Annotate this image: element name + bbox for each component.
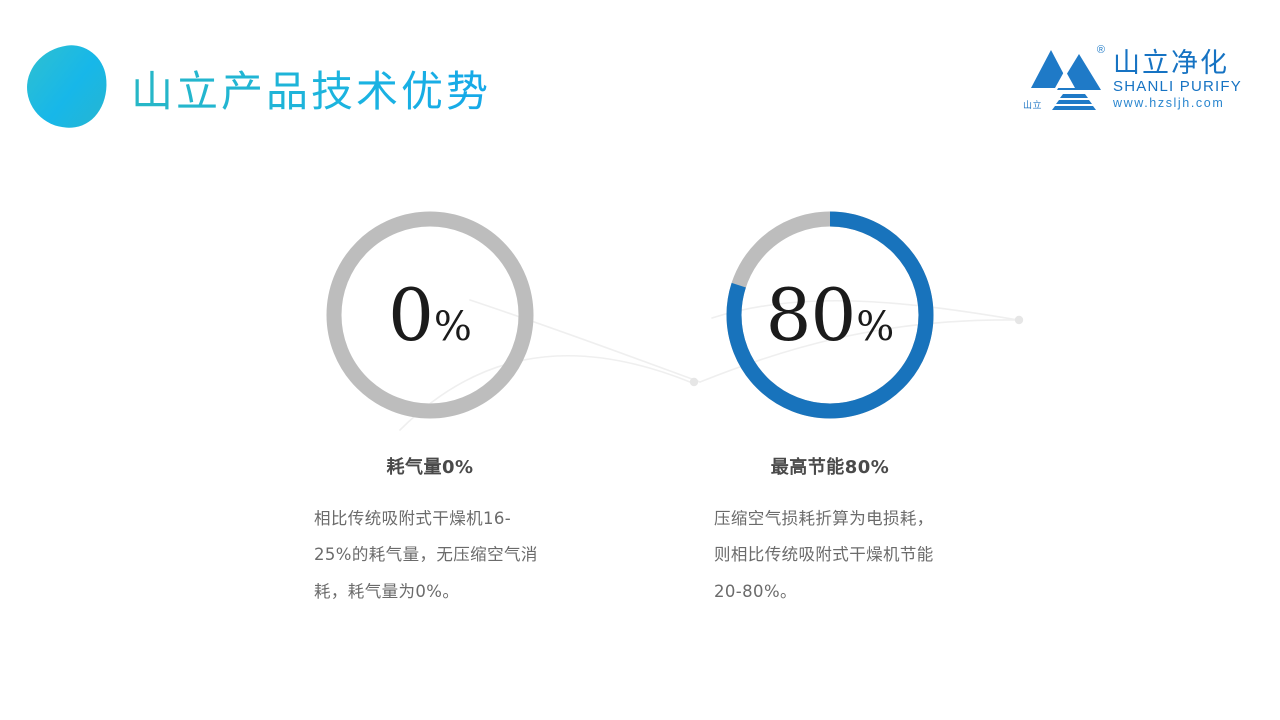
card-title-left: 耗气量0% bbox=[280, 453, 580, 479]
donut-chart-gas-consumption: 0 % bbox=[320, 205, 540, 425]
company-logo: ® 山立 山立净化 SHANLI PURIFY www.hzsljh.com bbox=[1023, 44, 1242, 118]
donut-value-number: 80 bbox=[766, 279, 856, 351]
registered-trademark-icon: ® bbox=[1097, 44, 1105, 56]
donut-percent-symbol: % bbox=[434, 307, 472, 347]
page-title: 山立产品技术优势 bbox=[131, 58, 491, 119]
logo-name-en: SHANLI PURIFY bbox=[1113, 78, 1242, 95]
donut-chart-energy-saving: 80 % bbox=[720, 205, 940, 425]
logo-website-url: www.hzsljh.com bbox=[1113, 96, 1242, 111]
slide-header: 山立产品技术优势 ® 山立 山立净化 SHA bbox=[0, 0, 1280, 150]
stat-card-energy-saving: 80 % 最高节能80% 压缩空气损耗折算为电损耗，则相比传统吸附式干燥机节能2… bbox=[680, 205, 980, 610]
donut-center-label-80: 80 % bbox=[720, 205, 940, 425]
logo-mark-caption: 山立 bbox=[1023, 101, 1042, 110]
logo-name-cn: 山立净化 bbox=[1113, 50, 1242, 78]
card-body-right: 压缩空气损耗折算为电损耗，则相比传统吸附式干燥机节能20-80%。 bbox=[714, 501, 946, 610]
logo-text-block: 山立净化 SHANLI PURIFY www.hzsljh.com bbox=[1113, 44, 1242, 111]
mountain-logo-icon: ® 山立 bbox=[1023, 44, 1109, 116]
donut-percent-symbol: % bbox=[856, 307, 894, 347]
slide-root: 山立产品技术优势 ® 山立 山立净化 SHA bbox=[0, 0, 1280, 720]
stat-card-gas-consumption: 0 % 耗气量0% 相比传统吸附式干燥机16-25%的耗气量，无压缩空气消耗，耗… bbox=[280, 205, 580, 610]
donut-center-label-0: 0 % bbox=[320, 205, 540, 425]
donut-value-number: 0 bbox=[388, 279, 433, 351]
blob-shape-icon bbox=[22, 41, 113, 133]
card-body-left: 相比传统吸附式干燥机16-25%的耗气量，无压缩空气消耗，耗气量为0%。 bbox=[314, 501, 546, 610]
card-title-right: 最高节能80% bbox=[680, 453, 980, 479]
